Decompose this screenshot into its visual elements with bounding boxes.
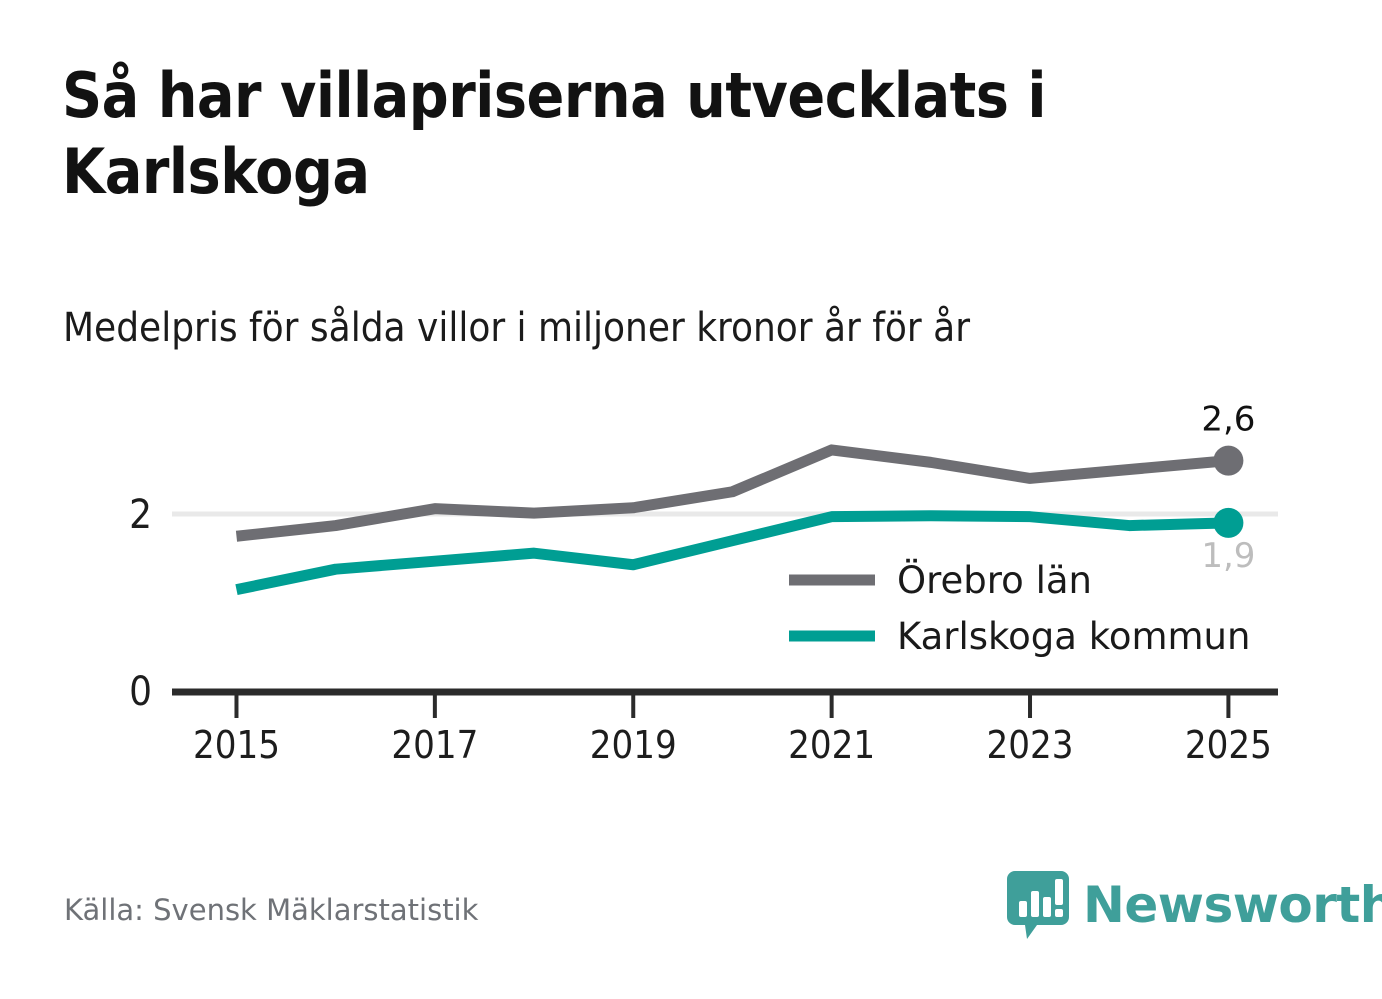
chart-subtitle: Medelpris för sålda villor i miljoner kr…	[63, 305, 1263, 351]
line-chart: 2 0 2,6 1,9 201520172019202120232025 Öre…	[0, 390, 1382, 790]
series-endpoint-marker-karlskoga-kommun	[1213, 508, 1243, 538]
chart-canvas: 2 0 2,6 1,9 201520172019202120232025 Öre…	[0, 390, 1382, 790]
legend-label-karlskoga-kommun: Karlskoga kommun	[897, 615, 1250, 658]
newsworthy-logo: Newsworthy	[1007, 866, 1382, 944]
x-axis-tick-label: 2017	[391, 723, 478, 767]
x-axis-tick-label: 2025	[1185, 723, 1272, 767]
x-axis-tick-labels: 201520172019202120232025	[193, 723, 1272, 767]
newsworthy-wordmark: Newsworthy	[1083, 880, 1382, 930]
legend: Örebro län Karlskoga kommun	[789, 559, 1250, 658]
x-axis-ticks	[236, 695, 1228, 718]
source-note: Källa: Svensk Mäklarstatistik	[64, 893, 478, 927]
series-end-value-orebro-lan: 2,6	[1201, 400, 1255, 440]
x-axis-tick-label: 2019	[590, 723, 677, 767]
x-axis-tick-label: 2015	[193, 723, 280, 767]
chart-page: Så har villapriserna utvecklats i Karlsk…	[0, 0, 1382, 999]
y-axis-tick-2: 2	[129, 492, 152, 538]
series-endpoint-marker-orebro-lan	[1213, 446, 1243, 476]
legend-label-orebro-lan: Örebro län	[897, 559, 1092, 602]
x-axis-tick-label: 2023	[987, 723, 1074, 767]
newsworthy-mark-icon	[1007, 869, 1069, 941]
x-axis-tick-label: 2021	[788, 723, 875, 767]
y-axis-tick-0: 0	[129, 669, 152, 715]
series-end-value-karlskoga-kommun: 1,9	[1201, 536, 1255, 576]
page-title: Så har villapriserna utvecklats i Karlsk…	[62, 58, 1142, 209]
